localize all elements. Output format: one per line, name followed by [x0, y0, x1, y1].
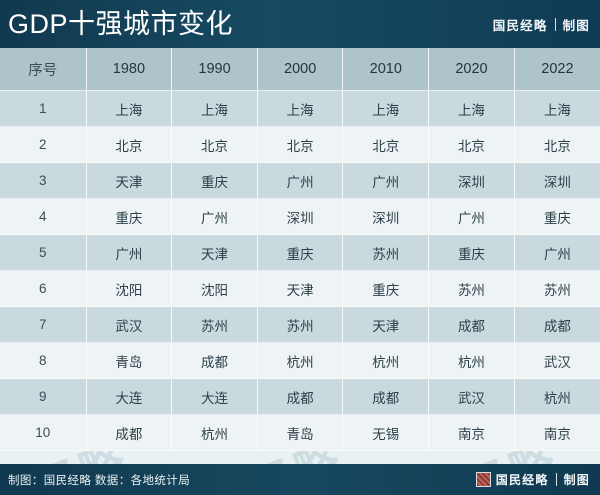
- city-cell: 沈阳: [172, 271, 258, 307]
- city-cell: 上海: [429, 91, 515, 127]
- city-cell: 成都: [86, 415, 172, 451]
- city-cell: 大连: [172, 379, 258, 415]
- footer-brand-divider: [556, 473, 557, 486]
- city-cell: 武汉: [86, 307, 172, 343]
- city-cell: 深圳: [514, 163, 600, 199]
- column-header-year-2020: 2020: [429, 48, 515, 91]
- header-brand-credit: 制图: [563, 15, 590, 34]
- city-cell: 北京: [86, 127, 172, 163]
- city-cell: 北京: [257, 127, 343, 163]
- header-brand-name: 国民经略: [493, 15, 548, 34]
- city-cell: 广州: [257, 163, 343, 199]
- footer-brand-credit: 制图: [564, 471, 590, 488]
- row-index-cell: 10: [0, 415, 86, 451]
- table-row: 8青岛成都杭州杭州杭州武汉: [0, 343, 600, 379]
- city-cell: 广州: [514, 235, 600, 271]
- city-cell: 苏州: [343, 235, 429, 271]
- table-header-row: 序号198019902000201020202022: [0, 48, 600, 91]
- row-index-cell: 9: [0, 379, 86, 415]
- column-header-year-1990: 1990: [172, 48, 258, 91]
- city-cell: 上海: [343, 91, 429, 127]
- table-row: 3天津重庆广州广州深圳深圳: [0, 163, 600, 199]
- city-cell: 杭州: [343, 343, 429, 379]
- city-cell: 深圳: [257, 199, 343, 235]
- gdp-ranking-table: 序号198019902000201020202022 1上海上海上海上海上海上海…: [0, 48, 600, 451]
- row-index-cell: 3: [0, 163, 86, 199]
- table-row: 5广州天津重庆苏州重庆广州: [0, 235, 600, 271]
- column-header-index: 序号: [0, 48, 86, 91]
- table-row: 9大连大连成都成都武汉杭州: [0, 379, 600, 415]
- city-cell: 杭州: [257, 343, 343, 379]
- city-cell: 杭州: [172, 415, 258, 451]
- city-cell: 天津: [172, 235, 258, 271]
- row-index-cell: 5: [0, 235, 86, 271]
- table-row: 4重庆广州深圳深圳广州重庆: [0, 199, 600, 235]
- table-container: 国民经略国民经略国民经略国民经略国民经略国民经略国民经略国民经略国民经略国民经略…: [0, 48, 600, 464]
- city-cell: 深圳: [429, 163, 515, 199]
- city-cell: 天津: [86, 163, 172, 199]
- city-cell: 上海: [514, 91, 600, 127]
- city-cell: 上海: [86, 91, 172, 127]
- footer-brand-name: 国民经略: [496, 471, 549, 488]
- city-cell: 南京: [514, 415, 600, 451]
- city-cell: 武汉: [429, 379, 515, 415]
- row-index-cell: 1: [0, 91, 86, 127]
- city-cell: 南京: [429, 415, 515, 451]
- city-cell: 沈阳: [86, 271, 172, 307]
- city-cell: 广州: [172, 199, 258, 235]
- row-index-cell: 2: [0, 127, 86, 163]
- footer-credit-line: 制图：国民经略 数据：各地统计局: [8, 472, 190, 488]
- city-cell: 上海: [257, 91, 343, 127]
- city-cell: 重庆: [429, 235, 515, 271]
- city-cell: 广州: [343, 163, 429, 199]
- city-cell: 大连: [86, 379, 172, 415]
- row-index-cell: 7: [0, 307, 86, 343]
- table-row: 7武汉苏州苏州天津成都成都: [0, 307, 600, 343]
- city-cell: 青岛: [257, 415, 343, 451]
- row-index-cell: 4: [0, 199, 86, 235]
- city-cell: 北京: [343, 127, 429, 163]
- city-cell: 北京: [514, 127, 600, 163]
- city-cell: 北京: [172, 127, 258, 163]
- city-cell: 上海: [172, 91, 258, 127]
- brand-logo-icon: [476, 472, 491, 487]
- row-index-cell: 8: [0, 343, 86, 379]
- city-cell: 重庆: [514, 199, 600, 235]
- row-index-cell: 6: [0, 271, 86, 307]
- city-cell: 天津: [343, 307, 429, 343]
- city-cell: 北京: [429, 127, 515, 163]
- page-title: GDP十强城市变化: [8, 11, 233, 38]
- city-cell: 成都: [514, 307, 600, 343]
- column-header-year-2010: 2010: [343, 48, 429, 91]
- table-row: 10成都杭州青岛无锡南京南京: [0, 415, 600, 451]
- city-cell: 深圳: [343, 199, 429, 235]
- table-row: 2北京北京北京北京北京北京: [0, 127, 600, 163]
- table-head: 序号198019902000201020202022: [0, 48, 600, 91]
- city-cell: 苏州: [514, 271, 600, 307]
- city-cell: 成都: [429, 307, 515, 343]
- header-brand: 国民经略 制图: [493, 15, 590, 34]
- city-cell: 重庆: [257, 235, 343, 271]
- city-cell: 杭州: [429, 343, 515, 379]
- city-cell: 天津: [257, 271, 343, 307]
- table-row: 1上海上海上海上海上海上海: [0, 91, 600, 127]
- footer-bar: 制图：国民经略 数据：各地统计局 国民经略 制图: [0, 464, 600, 495]
- city-cell: 苏州: [429, 271, 515, 307]
- city-cell: 无锡: [343, 415, 429, 451]
- city-cell: 成都: [257, 379, 343, 415]
- column-header-year-2022: 2022: [514, 48, 600, 91]
- infographic-root: GDP十强城市变化 国民经略 制图 国民经略国民经略国民经略国民经略国民经略国民…: [0, 0, 600, 495]
- city-cell: 苏州: [257, 307, 343, 343]
- footer-brand: 国民经略 制图: [476, 471, 590, 488]
- city-cell: 广州: [86, 235, 172, 271]
- table-row: 6沈阳沈阳天津重庆苏州苏州: [0, 271, 600, 307]
- column-header-year-1980: 1980: [86, 48, 172, 91]
- city-cell: 重庆: [86, 199, 172, 235]
- city-cell: 成都: [172, 343, 258, 379]
- column-header-year-2000: 2000: [257, 48, 343, 91]
- city-cell: 成都: [343, 379, 429, 415]
- title-bar: GDP十强城市变化 国民经略 制图: [0, 0, 600, 48]
- table-body: 1上海上海上海上海上海上海2北京北京北京北京北京北京3天津重庆广州广州深圳深圳4…: [0, 91, 600, 451]
- city-cell: 青岛: [86, 343, 172, 379]
- city-cell: 重庆: [343, 271, 429, 307]
- city-cell: 武汉: [514, 343, 600, 379]
- header-brand-divider: [555, 18, 556, 31]
- city-cell: 重庆: [172, 163, 258, 199]
- city-cell: 苏州: [172, 307, 258, 343]
- city-cell: 杭州: [514, 379, 600, 415]
- city-cell: 广州: [429, 199, 515, 235]
